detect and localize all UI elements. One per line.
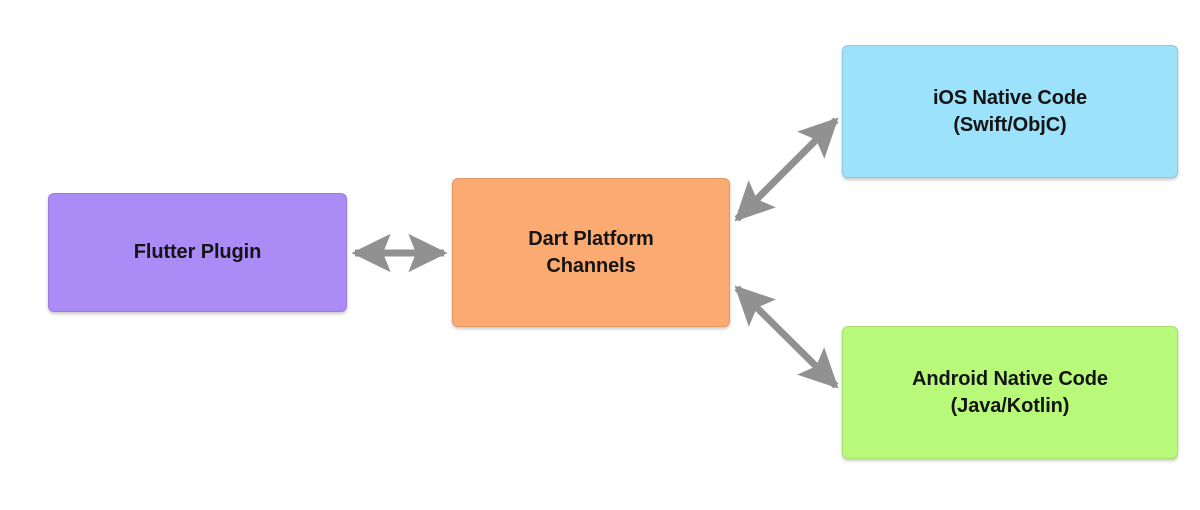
node-ios-native-code-label: iOS Native Code (Swift/ObjC) [923, 85, 1097, 138]
architecture-diagram: Flutter Plugin Dart Platform Channels iO… [0, 0, 1200, 510]
edge-channels-ios [737, 120, 836, 219]
node-dart-platform-channels-label: Dart Platform Channels [518, 226, 663, 279]
node-dart-platform-channels[interactable]: Dart Platform Channels [452, 178, 730, 327]
node-flutter-plugin[interactable]: Flutter Plugin [48, 193, 347, 312]
node-flutter-plugin-label: Flutter Plugin [124, 239, 271, 265]
node-android-native-code-label: Android Native Code (Java/Kotlin) [902, 366, 1118, 419]
node-android-native-code[interactable]: Android Native Code (Java/Kotlin) [842, 326, 1178, 459]
edge-channels-android [737, 288, 836, 386]
node-ios-native-code[interactable]: iOS Native Code (Swift/ObjC) [842, 45, 1178, 178]
